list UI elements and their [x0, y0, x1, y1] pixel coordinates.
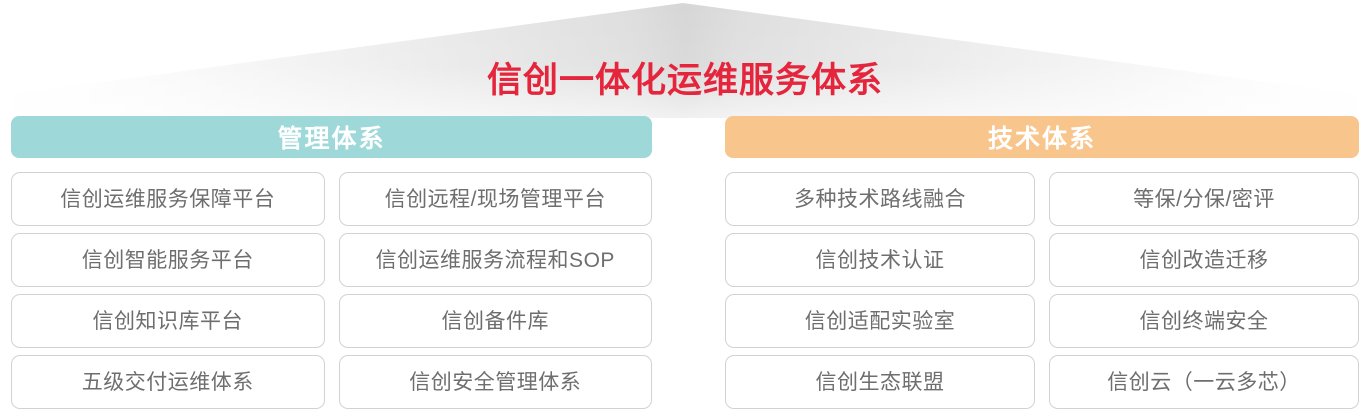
cell-label: 信创远程/现场管理平台 [385, 189, 606, 210]
list-item[interactable]: 信创运维服务流程和SOP [339, 233, 653, 287]
cell-label: 信创技术认证 [816, 250, 945, 271]
diagram-canvas: 信创一体化运维服务体系 管理体系 信创运维服务保障平台 信创远程/现场管理平台 … [0, 0, 1370, 418]
cell-label: 信创适配实验室 [805, 311, 956, 332]
list-item[interactable]: 信创适配实验室 [725, 294, 1035, 348]
cell-label: 五级交付运维体系 [82, 372, 254, 393]
panel-technology: 技术体系 多种技术路线融合 等保/分保/密评 信创技术认证 信创改造迁移 信创适… [725, 116, 1359, 409]
cell-label: 信创运维服务流程和SOP [376, 250, 615, 271]
cell-label: 信创生态联盟 [816, 372, 945, 393]
cell-label: 信创终端安全 [1140, 311, 1269, 332]
cell-label: 多种技术路线融合 [794, 189, 966, 210]
cell-label: 信创改造迁移 [1140, 250, 1269, 271]
list-item[interactable]: 信创安全管理体系 [339, 355, 653, 409]
panel-header-technology: 技术体系 [725, 116, 1359, 158]
panel-grid-technology: 多种技术路线融合 等保/分保/密评 信创技术认证 信创改造迁移 信创适配实验室 … [725, 172, 1359, 409]
cell-label: 等保/分保/密评 [1133, 189, 1275, 210]
list-item[interactable]: 五级交付运维体系 [11, 355, 325, 409]
list-item[interactable]: 信创运维服务保障平台 [11, 172, 325, 226]
cell-label: 信创云（一云多芯） [1107, 372, 1301, 393]
cell-label: 信创安全管理体系 [409, 372, 581, 393]
list-item[interactable]: 信创改造迁移 [1049, 233, 1359, 287]
list-item[interactable]: 信创智能服务平台 [11, 233, 325, 287]
list-item[interactable]: 信创远程/现场管理平台 [339, 172, 653, 226]
cell-label: 信创智能服务平台 [82, 250, 254, 271]
list-item[interactable]: 信创技术认证 [725, 233, 1035, 287]
panel-management: 管理体系 信创运维服务保障平台 信创远程/现场管理平台 信创智能服务平台 信创运… [11, 116, 652, 409]
list-item[interactable]: 信创备件库 [339, 294, 653, 348]
list-item[interactable]: 信创云（一云多芯） [1049, 355, 1359, 409]
list-item[interactable]: 等保/分保/密评 [1049, 172, 1359, 226]
panel-grid-management: 信创运维服务保障平台 信创远程/现场管理平台 信创智能服务平台 信创运维服务流程… [11, 172, 652, 409]
list-item[interactable]: 信创知识库平台 [11, 294, 325, 348]
list-item[interactable]: 多种技术路线融合 [725, 172, 1035, 226]
list-item[interactable]: 信创生态联盟 [725, 355, 1035, 409]
list-item[interactable]: 信创终端安全 [1049, 294, 1359, 348]
cell-label: 信创运维服务保障平台 [60, 189, 275, 210]
cell-label: 信创知识库平台 [93, 311, 244, 332]
page-title: 信创一体化运维服务体系 [0, 58, 1370, 104]
panel-header-management: 管理体系 [11, 116, 652, 158]
cell-label: 信创备件库 [442, 311, 550, 332]
